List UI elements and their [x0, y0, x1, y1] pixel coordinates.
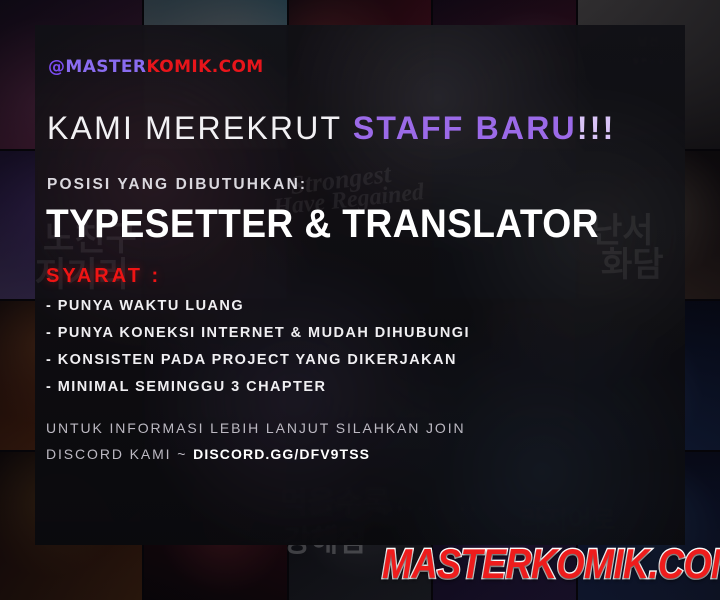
requirements-heading: SYARAT :: [46, 265, 161, 288]
positions-title: TYPESETTER & TRANSLATOR: [46, 202, 599, 247]
info-line-1: UNTUK INFORMASI LEBIH LANJUT SILAHKAN JO…: [46, 415, 466, 441]
logo-name: MASTER: [65, 57, 146, 77]
headline-part-1: KAMI MEREKRUT: [47, 110, 353, 146]
discord-invite-link[interactable]: DISCORD.GG/DFV9TSS: [193, 446, 370, 462]
discord-label: DISCORD KAMI ~: [46, 446, 193, 462]
info-block: UNTUK INFORMASI LEBIH LANJUT SILAHKAN JO…: [46, 415, 466, 467]
logo-at-symbol: @: [48, 57, 65, 77]
headline: KAMI MEREKRUT STAFF BARU!!!: [47, 110, 615, 147]
recruitment-banner: 七 낭선 장편소설 먹을수록 I N V I N C I B L E A T T…: [0, 0, 720, 600]
headline-exclamation: !!!: [577, 110, 616, 146]
requirement-item: - PUNYA WAKTU LUANG: [46, 297, 470, 315]
info-line-2: DISCORD KAMI ~ DISCORD.GG/DFV9TSS: [46, 441, 466, 467]
requirement-item: - MINIMAL SEMINGGU 3 CHAPTER: [46, 378, 470, 396]
site-logo: @MASTERKOMIK.COM: [48, 57, 264, 77]
requirement-item: - PUNYA KONEKSI INTERNET & MUDAH DIHUBUN…: [46, 324, 470, 342]
requirements-list: - PUNYA WAKTU LUANG - PUNYA KONEKSI INTE…: [46, 297, 470, 405]
banner-content: @MASTERKOMIK.COM KAMI MEREKRUT STAFF BAR…: [0, 0, 720, 600]
logo-domain: KOMIK.COM: [146, 57, 263, 77]
positions-label: POSISI YANG DIBUTUHKAN:: [47, 176, 307, 194]
headline-highlight: STAFF BARU: [353, 110, 577, 146]
watermark: MASTERKOMIK.COM: [382, 540, 720, 588]
requirement-item: - KONSISTEN PADA PROJECT YANG DIKERJAKAN: [46, 351, 470, 369]
